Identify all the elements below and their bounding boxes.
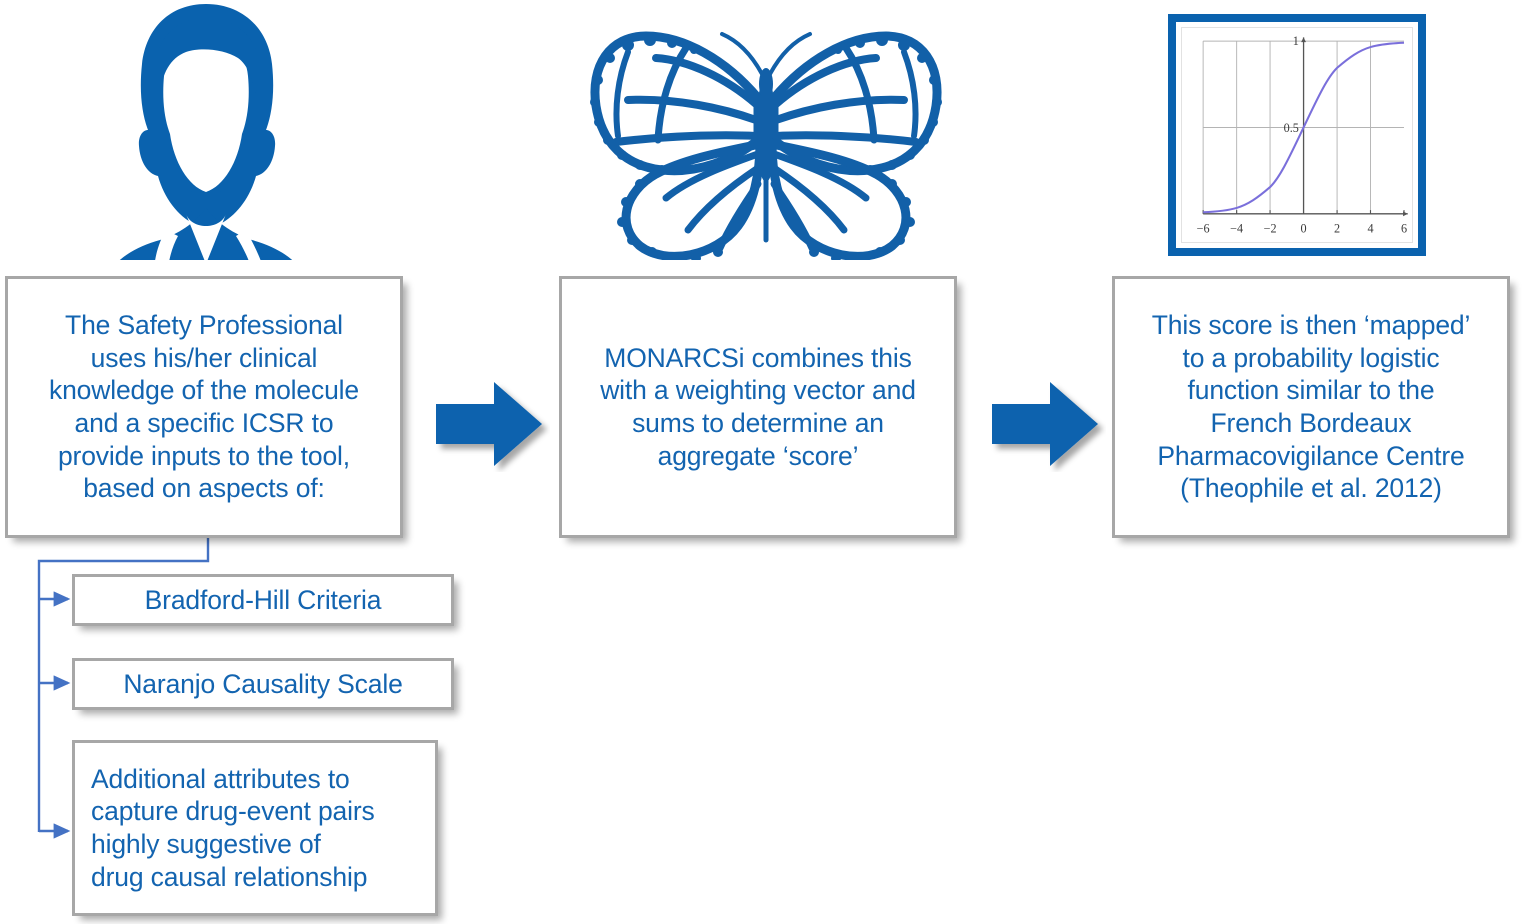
flow-arrow-shape [436, 382, 542, 466]
logistic-curve-svg: −6 −4 −2 0 2 4 6 1 0.5 [1182, 28, 1412, 242]
svg-text:−6: −6 [1197, 222, 1210, 236]
aspect-box-text: Additional attributes to capture drug-ev… [75, 763, 375, 894]
aspect-box-naranjo: Naranjo Causality Scale [72, 658, 454, 710]
aspect-box-text: Naranjo Causality Scale [123, 668, 402, 701]
process-box-text: The Safety Professional uses his/her cli… [41, 309, 367, 505]
aspect-box-text: Bradford-Hill Criteria [145, 584, 382, 617]
process-box-logistic-mapping: This score is then ‘mapped’ to a probabi… [1112, 276, 1510, 538]
svg-text:0: 0 [1301, 222, 1307, 236]
butterfly-icon [566, 12, 966, 260]
flow-arrow-shape [992, 382, 1098, 466]
flow-arrow-2 [988, 376, 1106, 472]
process-box-monarcsi: MONARCSi combines this with a weighting … [559, 276, 957, 538]
svg-text:4: 4 [1367, 222, 1373, 236]
svg-text:1: 1 [1293, 34, 1299, 48]
chart-x-tick-labels: −6 −4 −2 0 2 4 6 [1197, 222, 1407, 236]
flow-arrow-1 [432, 376, 550, 472]
chart-y-tick-labels: 1 0.5 [1284, 34, 1299, 135]
aspect-box-additional-attributes: Additional attributes to capture drug-ev… [72, 740, 438, 916]
svg-text:2: 2 [1334, 222, 1340, 236]
svg-text:6: 6 [1401, 222, 1407, 236]
process-box-safety-professional: The Safety Professional uses his/her cli… [5, 276, 403, 538]
aspect-box-bradford-hill: Bradford-Hill Criteria [72, 574, 454, 626]
svg-text:−4: −4 [1230, 222, 1243, 236]
chart-axes [1203, 37, 1408, 216]
svg-text:−2: −2 [1264, 222, 1277, 236]
diagram-canvas: −6 −4 −2 0 2 4 6 1 0.5 The Safety Profes… [0, 0, 1523, 924]
logistic-curve-chart: −6 −4 −2 0 2 4 6 1 0.5 [1168, 14, 1426, 256]
svg-text:0.5: 0.5 [1284, 121, 1299, 135]
doctor-silhouette-icon [74, 2, 338, 260]
process-box-text: MONARCSi combines this with a weighting … [592, 342, 924, 473]
process-box-text: This score is then ‘mapped’ to a probabi… [1144, 309, 1479, 505]
